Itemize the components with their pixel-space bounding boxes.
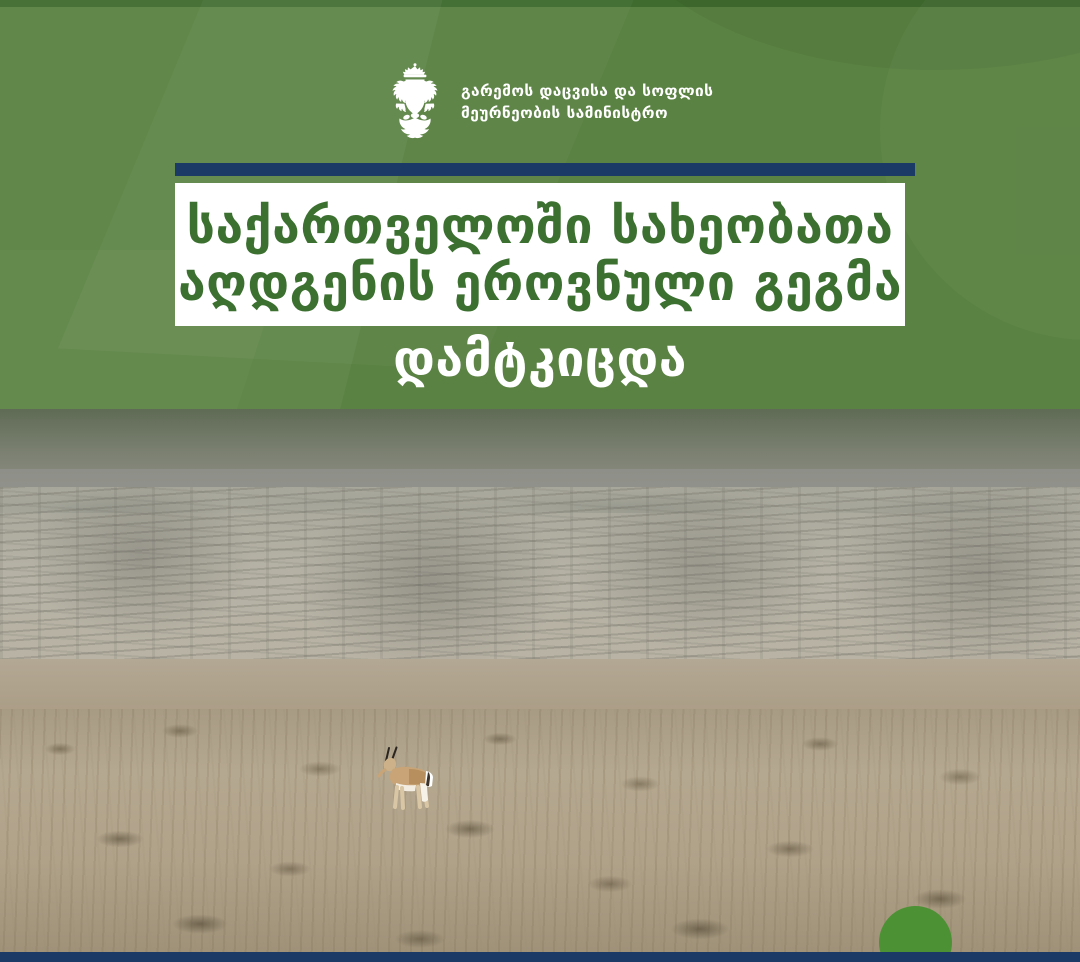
ministry-name-line1: გარემოს დაცვისა და სოფლის: [461, 80, 713, 102]
poster-root: გარემოს დაცვისა და სოფლის მეურნეობის სამ…: [0, 0, 1080, 962]
ministry-name: გარემოს დაცვისა და სოფლის მეურნეობის სამ…: [461, 80, 713, 124]
title-line-1: საქართველოში სახეობათა: [187, 198, 894, 255]
footer-navy-bar: [0, 952, 1080, 962]
gazelle-figure: [352, 739, 448, 825]
title-navy-rule: [175, 163, 915, 176]
cliff-shading: [0, 487, 1080, 687]
title-box: საქართველოში სახეობათა აღდგენის ეროვნული…: [175, 183, 905, 326]
title-line-2: აღდგენის ეროვნული გეგმა: [178, 255, 902, 312]
ministry-lockup: გარემოს დაცვისა და სოფლის მეურნეობის სამ…: [383, 63, 713, 141]
title-line-3: დამტკიცდა: [0, 332, 1080, 387]
ministry-name-line2: მეურნეობის სამინისტრო: [461, 102, 713, 124]
photo-eroded-cliffs: [0, 487, 1080, 687]
landscape-photo: [0, 409, 1080, 962]
georgia-coat-of-arms-icon: [383, 63, 447, 141]
